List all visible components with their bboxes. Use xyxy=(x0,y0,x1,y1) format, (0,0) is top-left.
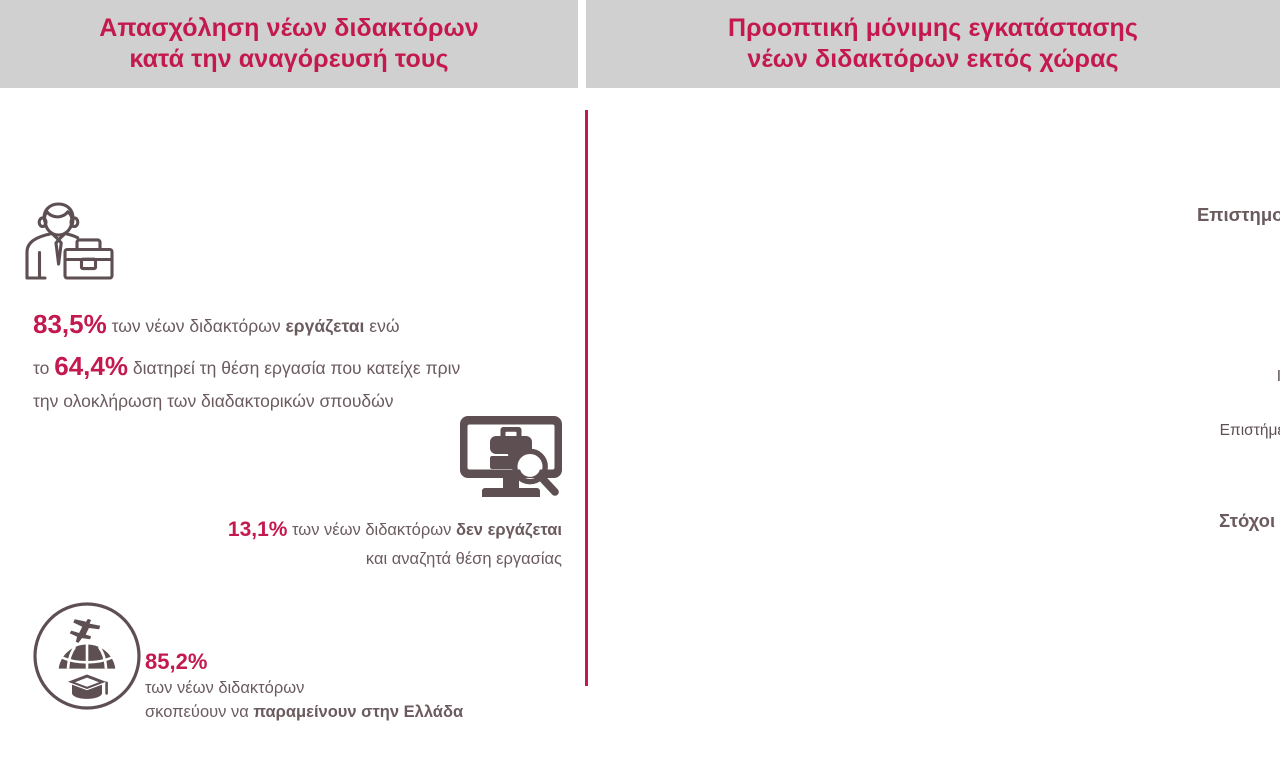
header-right: Προοπτική μόνιμης εγκατάστασης νέων διδα… xyxy=(586,0,1280,88)
hbar-row-0: Φυσικές Επιστήμες 35,1% xyxy=(1208,296,1280,344)
monitor-job-search-icon xyxy=(459,410,569,504)
stat-employed-text2: ενώ xyxy=(364,316,399,336)
stat-unemployed-text1: των νέων διδακτόρων xyxy=(287,521,456,539)
stat-unemployed-block: 13,1% των νέων διδακτόρων δεν εργάζεται … xyxy=(120,513,562,572)
header-right-line1: Προοπτική μόνιμης εγκατάστασης xyxy=(728,13,1138,45)
chart1-title-line1: Επιστημονικά πεδία στα οποία ανήκουν οι … xyxy=(1197,204,1280,225)
stat-employed-bold1: εργάζεται xyxy=(285,316,364,336)
hbar-label-2: Επιστήμες Μηχανικού & Τεχνολογία xyxy=(1208,421,1280,440)
stat-unemployed-line2: και αναζητά θέση εργασίας xyxy=(120,546,562,572)
stat-employed-text3: το xyxy=(33,358,54,378)
stat-stay-line2: σκοπεύουν να παραμείνουν στην Ελλάδα xyxy=(145,700,565,724)
hbar-label-0: Φυσικές Επιστήμες xyxy=(1208,310,1280,329)
header-left: Απασχόληση νέων διδακτόρων κατά την αναγ… xyxy=(0,0,578,88)
hbar-label-1: Ιατρική & Επιστήμες Υγείας xyxy=(1208,367,1280,386)
chart2-title: Στόχοι όσων σκοπεύουν να εγκατασταθούν σ… xyxy=(1219,508,1280,534)
stat-employed-text1: των νέων διδακτόρων xyxy=(107,316,286,336)
chart1-title: Επιστημονικά πεδία στα οποία ανήκουν οι … xyxy=(1187,202,1280,256)
stat-value-85: 85,2% xyxy=(145,648,565,676)
header-left-line1: Απασχόληση νέων διδακτόρων xyxy=(99,13,478,45)
hbar-row-2: Επιστήμες Μηχανικού & Τεχνολογία 20,9% xyxy=(1208,409,1280,453)
stat-employed-line2: το 64,4% διατηρεί τη θέση εργασία που κα… xyxy=(33,345,463,415)
stat-stay-bold1: παραμείνουν στην Ελλάδα xyxy=(253,703,463,721)
horizontal-bar-chart: Φυσικές Επιστήμες 35,1% Ιατρική & Επιστή… xyxy=(1208,293,1280,453)
stat-unemployed-line1: 13,1% των νέων διδακτόρων δεν εργάζεται xyxy=(120,513,562,546)
right-panel: Επιστημονικά πεδία στα οποία ανήκουν οι … xyxy=(586,88,1280,720)
header-right-line2: νέων διδακτόρων εκτός χώρας xyxy=(728,44,1138,76)
stat-unemployed-bold1: δεν εργάζεται xyxy=(456,521,562,539)
stat-value-83: 83,5% xyxy=(33,309,107,339)
globe-plane-graduation-icon xyxy=(28,600,146,712)
infographic-canvas: Απασχόληση νέων διδακτόρων κατά την αναγ… xyxy=(0,0,1280,720)
stat-stay-block: 85,2% των νέων διδακτόρων σκοπεύουν να π… xyxy=(145,648,565,724)
stat-employed-block: 83,5% των νέων διδακτόρων εργάζεται ενώ … xyxy=(33,303,463,416)
stat-value-64: 64,4% xyxy=(54,351,128,381)
hbar-row-1: Ιατρική & Επιστήμες Υγείας 24,5% xyxy=(1208,353,1280,401)
stat-employed-line1: 83,5% των νέων διδακτόρων εργάζεται ενώ xyxy=(33,303,463,345)
stat-stay-text2: σκοπεύουν να xyxy=(145,703,253,721)
businessman-briefcase-icon xyxy=(14,196,118,288)
vertical-bar-chart: 35,4% 26,7% 25,3% xyxy=(1208,544,1280,776)
header-left-line2: κατά την αναγόρευσή τους xyxy=(99,44,478,76)
left-panel: 83,5% των νέων διδακτόρων εργάζεται ενώ … xyxy=(0,88,578,720)
stat-stay-line1: των νέων διδακτόρων xyxy=(145,676,565,700)
stat-value-13: 13,1% xyxy=(228,518,288,541)
